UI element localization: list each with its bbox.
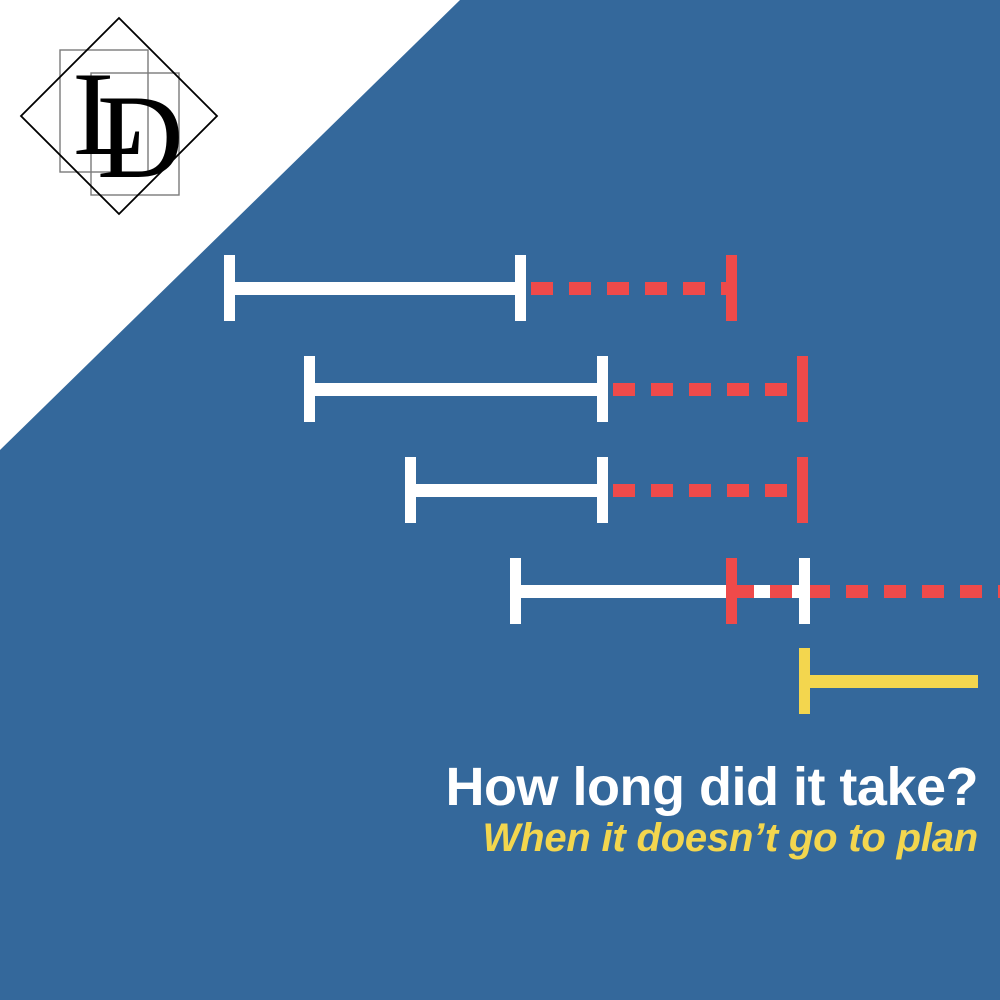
- planned-end-cap: [597, 356, 608, 422]
- overrun-end-cap: [726, 255, 737, 321]
- overrun-segment: [613, 484, 803, 497]
- headline-text: How long did it take?: [278, 760, 978, 815]
- overrun-segment: [613, 383, 803, 396]
- overrun-start-cap: [726, 558, 737, 624]
- planned-end-cap: [515, 255, 526, 321]
- planned-segment: [304, 383, 608, 396]
- planned-segment: [405, 484, 608, 497]
- overrun-end-cap: [797, 457, 808, 523]
- planned-segment: [224, 282, 526, 295]
- overrun-segment: [531, 282, 731, 295]
- caption-block: How long did it take? When it doesn’t go…: [278, 760, 978, 859]
- planned-end-cap: [597, 457, 608, 523]
- poster-canvas: L D: [0, 0, 1000, 1000]
- overrun-end-cap: [797, 356, 808, 422]
- planned-end-cap: [799, 558, 810, 624]
- extra-segment: [799, 675, 978, 688]
- subhead-text: When it doesn’t go to plan: [278, 817, 978, 859]
- overrun-segment: [732, 585, 1000, 598]
